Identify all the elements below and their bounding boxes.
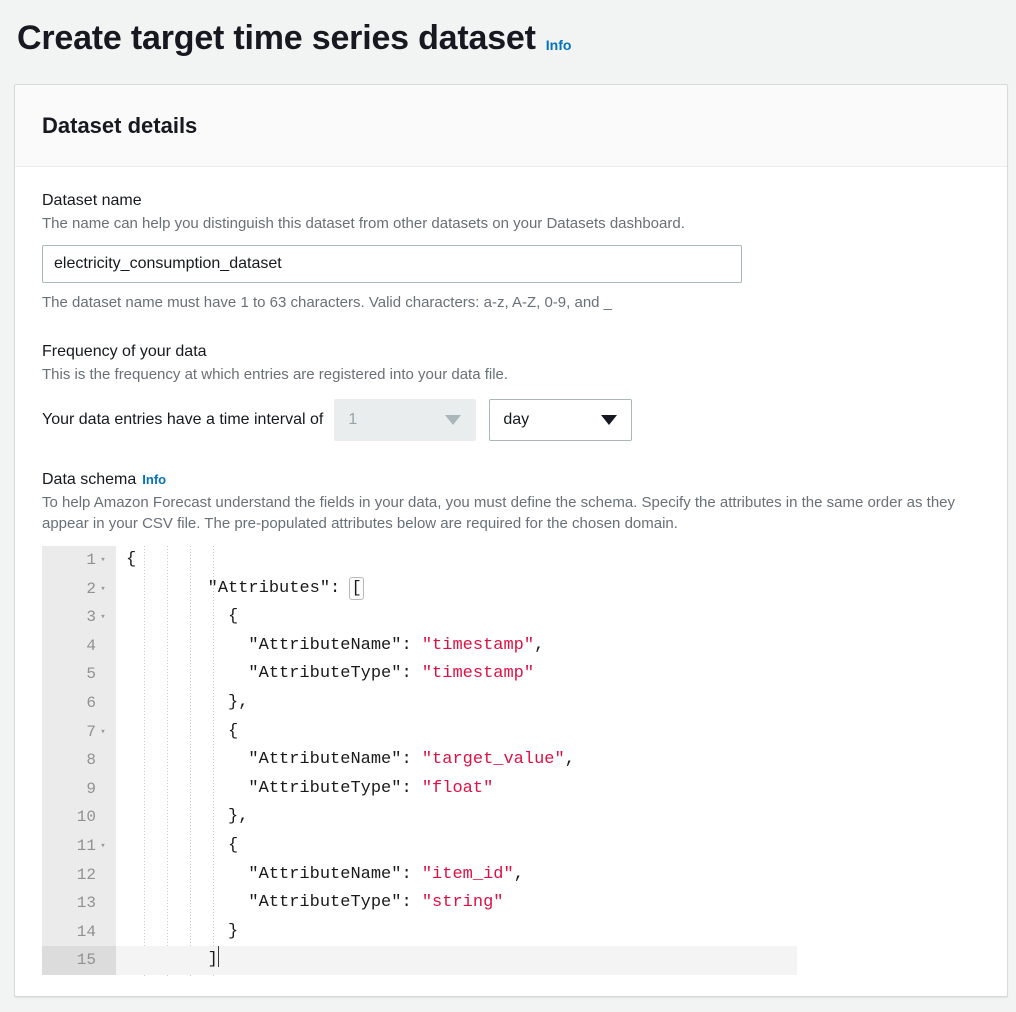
code-line-content: {	[116, 718, 982, 747]
data-schema-info-link[interactable]: Info	[142, 472, 166, 487]
card-body: Dataset name The name can help you disti…	[15, 167, 1007, 978]
code-line-content: "AttributeType": "string"	[116, 889, 982, 918]
frequency-field-group: Frequency of your data This is the frequ…	[42, 342, 980, 441]
bracket-match-highlight: [	[350, 578, 362, 599]
json-key: "AttributeType":	[248, 779, 421, 798]
code-line-content: "Attributes": [	[116, 575, 982, 604]
data-schema-field-group: Data schemaInfo To help Amazon Forecast …	[42, 470, 980, 978]
code-line[interactable]: 2▾ "Attributes": [	[42, 575, 982, 604]
frequency-row: Your data entries have a time interval o…	[42, 399, 980, 441]
line-number: 14	[77, 918, 96, 947]
json-string-value: "timestamp"	[422, 664, 534, 683]
json-string-value: "string"	[422, 893, 504, 912]
code-line[interactable]: 4 "AttributeName": "timestamp",	[42, 632, 982, 661]
line-number-gutter: 6	[42, 689, 116, 718]
card-header: Dataset details	[15, 85, 1007, 167]
json-punctuation: ]	[208, 950, 218, 969]
dataset-name-description: The name can help you distinguish this d…	[42, 213, 980, 234]
frequency-label: Frequency of your data	[42, 342, 980, 362]
chevron-down-icon	[445, 415, 461, 425]
json-key: "Attributes":	[208, 579, 351, 598]
line-number: 3	[86, 603, 96, 632]
json-punctuation: {	[228, 722, 238, 741]
schema-code-editor[interactable]: 1▾{2▾ "Attributes": [3▾ {4 "AttributeNam…	[42, 546, 982, 978]
line-number: 11	[77, 832, 96, 861]
code-line[interactable]: 10 },	[42, 803, 982, 832]
json-punctuation: {	[228, 836, 238, 855]
line-number: 10	[77, 803, 96, 832]
json-punctuation: ,	[565, 750, 575, 769]
page-title: Create target time series dataset	[17, 21, 536, 55]
code-line[interactable]: 5 "AttributeType": "timestamp"	[42, 660, 982, 689]
line-number-gutter: 3▾	[42, 603, 116, 632]
line-number-gutter: 9	[42, 775, 116, 804]
code-line-content: {	[116, 603, 982, 632]
json-punctuation: },	[228, 807, 248, 826]
fold-arrow-icon[interactable]: ▾	[96, 575, 110, 604]
line-number-gutter: 8	[42, 746, 116, 775]
line-number-gutter: 10	[42, 803, 116, 832]
json-string-value: "item_id"	[422, 865, 514, 884]
json-punctuation: ,	[534, 636, 544, 655]
json-key: "AttributeName":	[248, 750, 421, 769]
card-header-title: Dataset details	[42, 113, 197, 139]
code-line[interactable]: 9 "AttributeType": "float"	[42, 775, 982, 804]
json-punctuation: {	[126, 550, 136, 569]
code-line-content: "AttributeType": "timestamp"	[116, 660, 982, 689]
frequency-prefix-text: Your data entries have a time interval o…	[42, 411, 323, 429]
json-key: "AttributeName":	[248, 636, 421, 655]
line-number: 13	[77, 889, 96, 918]
dataset-name-hint: The dataset name must have 1 to 63 chara…	[42, 292, 980, 313]
line-number-gutter: 12	[42, 861, 116, 890]
code-line[interactable]: 15 ]	[42, 946, 982, 975]
line-number-gutter: 4	[42, 632, 116, 661]
line-number-gutter: 5	[42, 660, 116, 689]
line-number-gutter: 7▾	[42, 718, 116, 747]
line-number-gutter: 13	[42, 889, 116, 918]
dataset-name-field-group: Dataset name The name can help you disti…	[42, 191, 980, 313]
code-line[interactable]: 6 },	[42, 689, 982, 718]
fold-arrow-icon[interactable]: ▾	[96, 546, 110, 575]
line-number-gutter: 1▾	[42, 546, 116, 575]
code-line[interactable]: 13 "AttributeType": "string"	[42, 889, 982, 918]
dataset-details-card: Dataset details Dataset name The name ca…	[14, 84, 1008, 997]
json-key: "AttributeType":	[248, 664, 421, 683]
line-number-gutter: 14	[42, 918, 116, 947]
page-root: Create target time series dataset Info D…	[0, 0, 1016, 1012]
chevron-down-icon	[601, 415, 617, 425]
time-interval-value: 1	[335, 411, 445, 429]
line-number: 4	[86, 632, 96, 661]
line-number: 2	[86, 575, 96, 604]
line-number-gutter: 11▾	[42, 832, 116, 861]
json-key: "AttributeType":	[248, 893, 421, 912]
json-string-value: "timestamp"	[422, 636, 534, 655]
code-line-content: },	[116, 803, 982, 832]
code-line-content: "AttributeName": "target_value",	[116, 746, 982, 775]
line-number: 1	[86, 546, 96, 575]
json-string-value: "target_value"	[422, 750, 565, 769]
code-line-content: ]	[116, 946, 797, 975]
text-cursor	[218, 946, 219, 967]
code-lines-container: 1▾{2▾ "Attributes": [3▾ {4 "AttributeNam…	[42, 546, 982, 975]
code-line[interactable]: 7▾ {	[42, 718, 982, 747]
data-schema-label: Data schema	[42, 471, 136, 488]
line-number-gutter: 2▾	[42, 575, 116, 604]
json-key: "AttributeName":	[248, 865, 421, 884]
code-line-content: "AttributeType": "float"	[116, 775, 982, 804]
line-number: 9	[86, 775, 96, 804]
code-line-content: }	[116, 918, 982, 947]
code-line[interactable]: 11▾ {	[42, 832, 982, 861]
time-unit-select[interactable]: day	[489, 399, 632, 441]
json-punctuation: },	[228, 693, 248, 712]
code-line[interactable]: 8 "AttributeName": "target_value",	[42, 746, 982, 775]
code-line-content: "AttributeName": "item_id",	[116, 861, 982, 890]
fold-arrow-icon[interactable]: ▾	[96, 603, 110, 632]
line-number: 15	[77, 946, 96, 975]
page-title-info-link[interactable]: Info	[546, 37, 572, 53]
code-line-content: {	[116, 546, 982, 575]
dataset-name-input[interactable]	[42, 245, 742, 283]
code-line-content: "AttributeName": "timestamp",	[116, 632, 982, 661]
json-punctuation: }	[228, 922, 238, 941]
fold-arrow-icon[interactable]: ▾	[96, 718, 110, 747]
spacer	[42, 313, 980, 342]
json-punctuation: ,	[514, 865, 524, 884]
code-line[interactable]: 3▾ {	[42, 603, 982, 632]
line-number: 6	[86, 689, 96, 718]
time-interval-select: 1	[334, 399, 476, 441]
json-punctuation: {	[228, 607, 238, 626]
line-number: 8	[86, 746, 96, 775]
code-line[interactable]: 1▾{	[42, 546, 982, 575]
spacer	[42, 441, 980, 470]
line-number-gutter: 15	[42, 946, 116, 975]
code-line[interactable]: 12 "AttributeName": "item_id",	[42, 861, 982, 890]
page-header: Create target time series dataset Info	[0, 0, 1016, 76]
time-unit-value: day	[490, 411, 601, 429]
code-line-content: {	[116, 832, 982, 861]
data-schema-description: To help Amazon Forecast understand the f…	[42, 492, 980, 534]
code-line-content: },	[116, 689, 982, 718]
line-number: 12	[77, 861, 96, 890]
dataset-name-label: Dataset name	[42, 191, 980, 211]
code-line[interactable]: 14 }	[42, 918, 982, 947]
line-number: 5	[86, 660, 96, 689]
data-schema-label-row: Data schemaInfo	[42, 470, 980, 490]
fold-arrow-icon[interactable]: ▾	[96, 832, 110, 861]
json-string-value: "float"	[422, 779, 493, 798]
line-number: 7	[86, 718, 96, 747]
frequency-description: This is the frequency at which entries a…	[42, 364, 980, 385]
